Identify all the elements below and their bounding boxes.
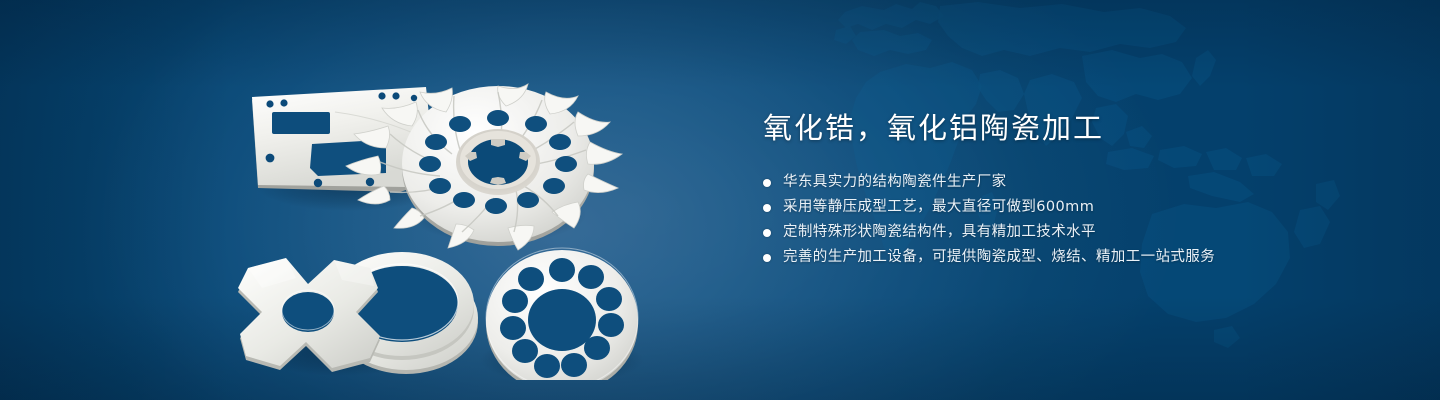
feature-text: 完善的生产加工设备，可提供陶瓷成型、烧结、精加工一站式服务 xyxy=(783,245,1215,270)
ceramic-product-group xyxy=(230,40,720,380)
bullet-dot-icon xyxy=(763,254,771,262)
bullet-dot-icon xyxy=(763,179,771,187)
feature-text: 华东具实力的结构陶瓷件生产厂家 xyxy=(783,170,1007,195)
feature-text: 采用等静压成型工艺，最大直径可做到600mm xyxy=(783,195,1094,220)
hero-banner: 氧化锆，氧化铝陶瓷加工 华东具实力的结构陶瓷件生产厂家 采用等静压成型工艺，最大… xyxy=(0,0,1440,400)
list-item: 完善的生产加工设备，可提供陶瓷成型、烧结、精加工一站式服务 xyxy=(763,245,1383,270)
page-title: 氧化锆，氧化铝陶瓷加工 xyxy=(763,108,1383,148)
bullet-dot-icon xyxy=(763,229,771,237)
feature-text: 定制特殊形状陶瓷结构件，具有精加工技术水平 xyxy=(783,220,1096,245)
feature-list: 华东具实力的结构陶瓷件生产厂家 采用等静压成型工艺，最大直径可做到600mm 定… xyxy=(763,170,1383,270)
list-item: 定制特殊形状陶瓷结构件，具有精加工技术水平 xyxy=(763,220,1383,245)
ceramic-perforated-disc xyxy=(486,248,638,380)
copy-block: 氧化锆，氧化铝陶瓷加工 华东具实力的结构陶瓷件生产厂家 采用等静压成型工艺，最大… xyxy=(763,108,1383,270)
bullet-dot-icon xyxy=(763,204,771,212)
list-item: 采用等静压成型工艺，最大直径可做到600mm xyxy=(763,195,1383,220)
list-item: 华东具实力的结构陶瓷件生产厂家 xyxy=(763,170,1383,195)
